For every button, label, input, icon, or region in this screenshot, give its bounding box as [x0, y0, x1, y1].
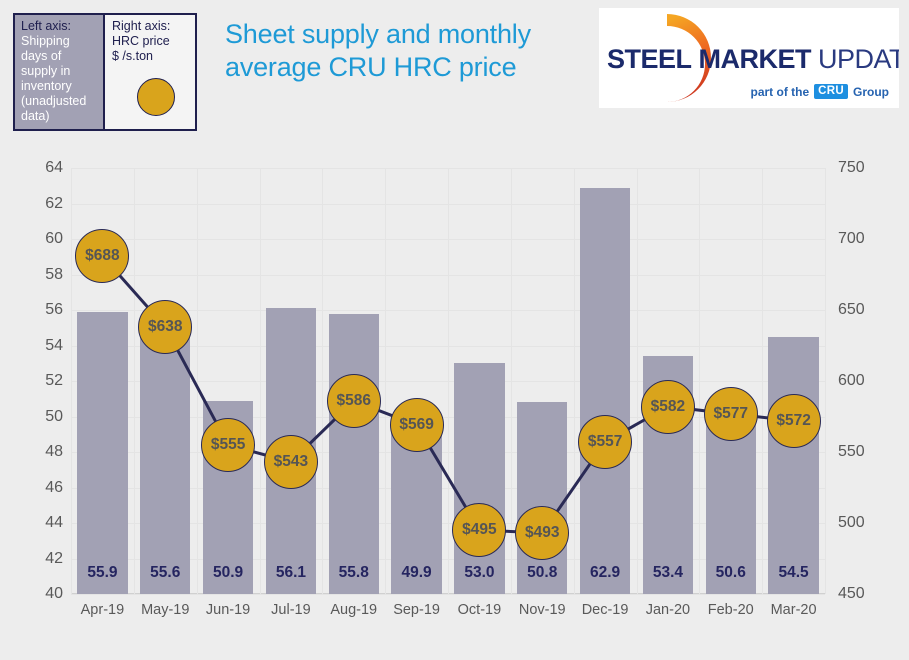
logo-word-market: MARKET	[699, 44, 812, 74]
price-bubble: $572	[767, 394, 821, 448]
right-axis-tick-label: 650	[838, 302, 865, 318]
x-axis-tick-label: Jul-19	[260, 602, 323, 619]
legend-right-line2: HRC price	[112, 34, 190, 49]
left-axis-tick-label: 64	[45, 160, 63, 176]
legend-right-line3: $ /s.ton	[112, 49, 190, 64]
left-axis-tick-label: 54	[45, 338, 63, 354]
chart-title: Sheet supply and monthly average CRU HRC…	[225, 18, 590, 84]
price-bubble: $638	[138, 300, 192, 354]
vertical-gridline	[825, 168, 826, 594]
left-axis-tick-label: 44	[45, 515, 63, 531]
x-axis-tick-label: Aug-19	[322, 602, 385, 619]
x-axis-tick-label: Oct-19	[448, 602, 511, 619]
price-bubble: $569	[390, 398, 444, 452]
x-axis-tick-label: Nov-19	[511, 602, 574, 619]
right-y-axis: 450500550600650700750	[838, 0, 898, 660]
left-axis-tick-label: 50	[45, 409, 63, 425]
left-axis-tick-label: 48	[45, 444, 63, 460]
gold-circle-marker-icon	[137, 78, 175, 116]
price-bubble: $555	[201, 418, 255, 472]
x-axis-tick-label: Feb-20	[699, 602, 762, 619]
left-axis-tick-label: 52	[45, 373, 63, 389]
left-axis-tick-label: 46	[45, 480, 63, 496]
price-line	[71, 168, 825, 594]
left-axis-tick-label: 60	[45, 231, 63, 247]
right-axis-tick-label: 550	[838, 444, 865, 460]
logo-tagline-prefix: part of the	[751, 85, 810, 99]
left-axis-tick-label: 42	[45, 551, 63, 567]
legend-right-axis: Right axis: HRC price $ /s.ton	[105, 15, 195, 129]
left-y-axis: 40424446485052545658606264	[18, 0, 63, 660]
price-bubble: $577	[704, 387, 758, 441]
legend-right-heading: Right axis:	[112, 19, 190, 34]
logo-word-steel: STEEL	[607, 44, 692, 74]
price-bubble: $493	[515, 506, 569, 560]
left-axis-tick-label: 58	[45, 267, 63, 283]
price-bubble: $543	[264, 435, 318, 489]
horizontal-gridline	[71, 594, 825, 595]
x-axis-tick-label: Sep-19	[385, 602, 448, 619]
chart-page: Left axis: Shipping days of supply in in…	[0, 0, 909, 660]
left-axis-tick-label: 56	[45, 302, 63, 318]
x-axis-tick-label: May-19	[134, 602, 197, 619]
right-axis-tick-label: 600	[838, 373, 865, 389]
x-axis-tick-label: Jun-19	[197, 602, 260, 619]
x-axis-tick-label: Mar-20	[762, 602, 825, 619]
price-bubble: $557	[578, 415, 632, 469]
right-axis-tick-label: 750	[838, 160, 865, 176]
left-axis-tick-label: 62	[45, 196, 63, 212]
left-axis-tick-label: 40	[45, 586, 63, 602]
x-axis-tick-label: Apr-19	[71, 602, 134, 619]
right-axis-tick-label: 450	[838, 586, 865, 602]
price-bubble: $586	[327, 374, 381, 428]
plot-area: 55.955.650.956.155.849.953.050.862.953.4…	[71, 168, 825, 594]
x-axis-tick-label: Dec-19	[574, 602, 637, 619]
price-bubble: $582	[641, 380, 695, 434]
x-axis-tick-label: Jan-20	[637, 602, 700, 619]
right-axis-tick-label: 500	[838, 515, 865, 531]
right-axis-tick-label: 700	[838, 231, 865, 247]
